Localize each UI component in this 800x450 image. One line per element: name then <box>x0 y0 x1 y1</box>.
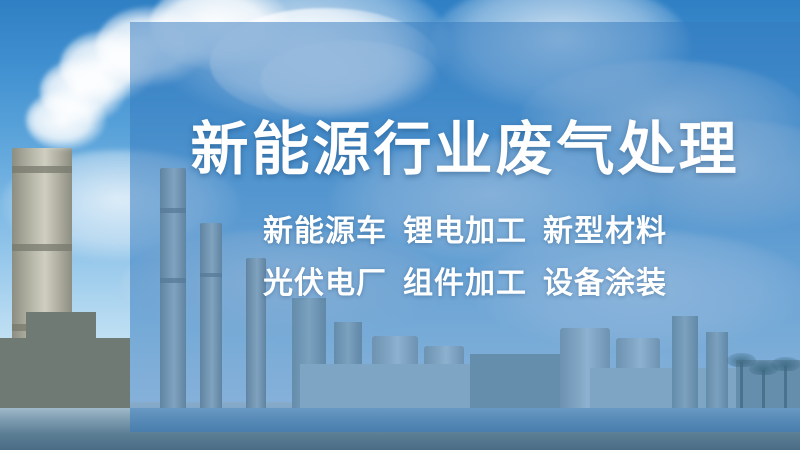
plant-building <box>26 312 96 408</box>
banner-image: 新能源行业废气处理 新能源车锂电加工新型材料 光伏电厂组件加工设备涂装 <box>0 0 800 450</box>
subtitle-item: 光伏电厂 <box>263 267 387 300</box>
subtitle-item: 新型材料 <box>543 215 667 248</box>
subtitle-item: 新能源车 <box>263 215 387 248</box>
subtitle-line-2: 光伏电厂组件加工设备涂装 <box>263 269 667 299</box>
subtitle-item: 设备涂装 <box>543 267 667 300</box>
subtitle-item: 组件加工 <box>403 267 527 300</box>
subtitle-item: 锂电加工 <box>403 215 527 248</box>
banner-text-block: 新能源行业废气处理 新能源车锂电加工新型材料 光伏电厂组件加工设备涂装 <box>130 22 800 432</box>
subtitle-line-1: 新能源车锂电加工新型材料 <box>263 217 667 247</box>
page-title: 新能源行业废气处理 <box>190 120 739 181</box>
